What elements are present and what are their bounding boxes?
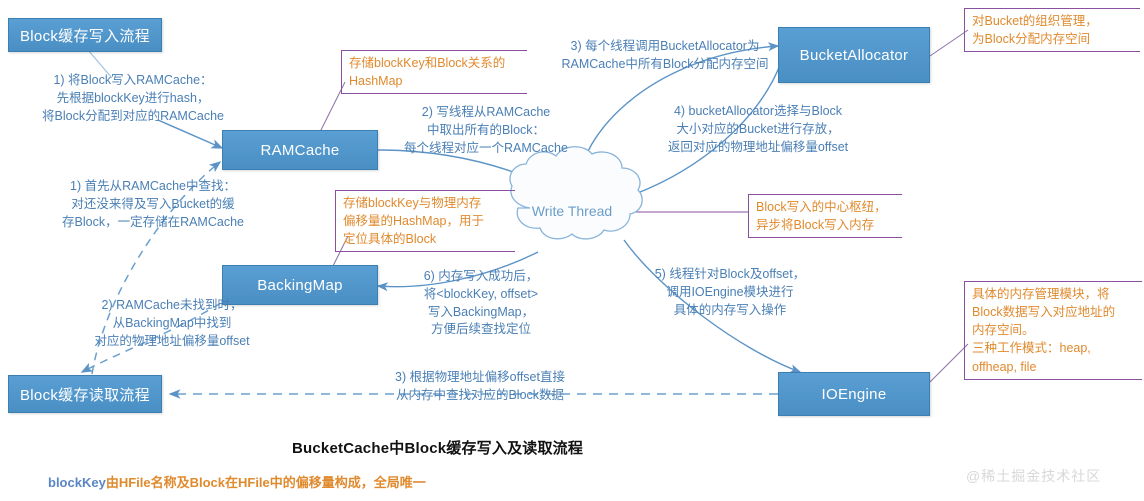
footnote-key-term: blockKey bbox=[48, 475, 106, 490]
annotation-step-w5: 5) 线程针对Block及offset， 调用IOEngine模块进行 具体的内… bbox=[626, 266, 834, 319]
node-read-flow-label: Block缓存读取流程 bbox=[20, 384, 150, 405]
node-bucketallocator-label: BucketAllocator bbox=[800, 47, 909, 64]
node-read-flow[interactable]: Block缓存读取流程 bbox=[8, 375, 162, 413]
node-ramcache[interactable]: RAMCache bbox=[222, 130, 378, 170]
node-write-flow[interactable]: Block缓存写入流程 bbox=[8, 18, 162, 52]
annotation-step-w1: 1) 将Block写入RAMCache： 先根据blockKey进行hash， … bbox=[18, 72, 248, 125]
node-write-thread[interactable]: Write Thread bbox=[512, 203, 632, 219]
node-write-thread-label: Write Thread bbox=[532, 203, 612, 219]
annotation-step-w2: 2) 写线程从RAMCache 中取出所有的Block： 每个线程对应一个RAM… bbox=[382, 104, 590, 157]
watermark: @稀土掘金技术社区 bbox=[966, 466, 1101, 486]
callout-bucketallocator: 对Bucket的组织管理， 为Block分配内存空间 bbox=[964, 8, 1140, 52]
node-ramcache-label: RAMCache bbox=[260, 142, 339, 159]
callout-backingmap: 存储blockKey与物理内存 偏移量的HashMap，用于 定位具体的Bloc… bbox=[335, 190, 515, 252]
write-thread-cloud bbox=[510, 147, 642, 239]
diagram-canvas: Block缓存写入流程 RAMCache BackingMap BucketAl… bbox=[0, 0, 1144, 501]
annotation-step-w3: 3) 每个线程调用BucketAllocator为 RAMCache中所有Blo… bbox=[546, 38, 784, 74]
node-backingmap-label: BackingMap bbox=[257, 277, 343, 294]
node-bucketallocator[interactable]: BucketAllocator bbox=[778, 27, 930, 83]
node-ioengine[interactable]: IOEngine bbox=[778, 372, 930, 416]
callout-ioengine: 具体的内存管理模块，将 Block数据写入对应地址的 内存空间。 三种工作模式：… bbox=[964, 281, 1142, 380]
annotation-step-w6: 6) 内存写入成功后， 将<blockKey, offset> 写入Backin… bbox=[386, 268, 576, 339]
diagram-footnote: blockKey由HFile名称及Block在HFile中的偏移量构成，全局唯一 bbox=[48, 472, 426, 491]
footnote-rest: 由HFile名称及Block在HFile中的偏移量构成，全局唯一 bbox=[106, 475, 426, 490]
annotation-step-r2: 2) RAMCache未找到时， 从BackingMap中找到 对应的物理地址偏… bbox=[62, 297, 282, 350]
leader-callout-ioengine bbox=[930, 344, 968, 382]
node-write-flow-label: Block缓存写入流程 bbox=[20, 25, 150, 46]
callout-ramcache: 存储blockKey和Block关系的 HashMap bbox=[341, 50, 527, 94]
annotation-step-w4: 4) bucketAllocator选择与Block 大小对应的Bucket进行… bbox=[640, 103, 876, 156]
node-ioengine-label: IOEngine bbox=[822, 386, 887, 403]
annotation-step-r1: 1) 首先从RAMCache中查找： 对还没来得及写入Bucket的缓 存Blo… bbox=[38, 178, 268, 231]
annotation-step-r3: 3) 根据物理地址偏移offset直接 从内存中查找对应的Block数据 bbox=[348, 369, 612, 405]
callout-writethread: Block写入的中心枢纽， 异步将Block写入内存 bbox=[748, 194, 902, 238]
leader-callout-bucketallocator bbox=[930, 30, 968, 56]
diagram-title: BucketCache中Block缓存写入及读取流程 bbox=[292, 437, 583, 458]
